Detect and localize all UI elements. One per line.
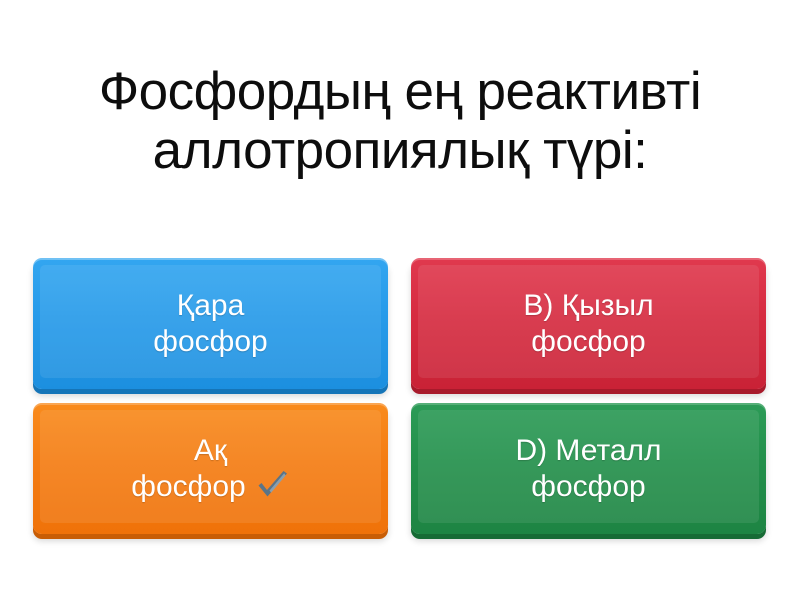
question-text: Фосфордың ең реактивті аллотропиялық түр… xyxy=(18,62,782,181)
answer-option-label: D) Металл фосфор xyxy=(515,433,661,504)
answer-option-red-phosphorus[interactable]: B) Қызыл фосфор xyxy=(411,258,766,389)
quiz-screen: Фосфордың ең реактивті аллотропиялық түр… xyxy=(0,0,800,600)
answer-options-grid: Қара фосфор B) Қызыл фосфор Ақ фосфор D)… xyxy=(33,258,766,534)
answer-option-label: Қара фосфор xyxy=(153,288,267,359)
answer-option-label: Ақ фосфор xyxy=(131,433,289,504)
question-area: Фосфордың ең реактивті аллотропиялық түр… xyxy=(0,62,800,181)
answer-option-label: B) Қызыл фосфор xyxy=(523,288,653,359)
check-mark-icon xyxy=(256,470,290,500)
answer-option-text: Ақ фосфор xyxy=(131,434,245,502)
answer-option-metallic-phosphorus[interactable]: D) Металл фосфор xyxy=(411,403,766,534)
answer-option-black-phosphorus[interactable]: Қара фосфор xyxy=(33,258,388,389)
answer-option-white-phosphorus[interactable]: Ақ фосфор xyxy=(33,403,388,534)
